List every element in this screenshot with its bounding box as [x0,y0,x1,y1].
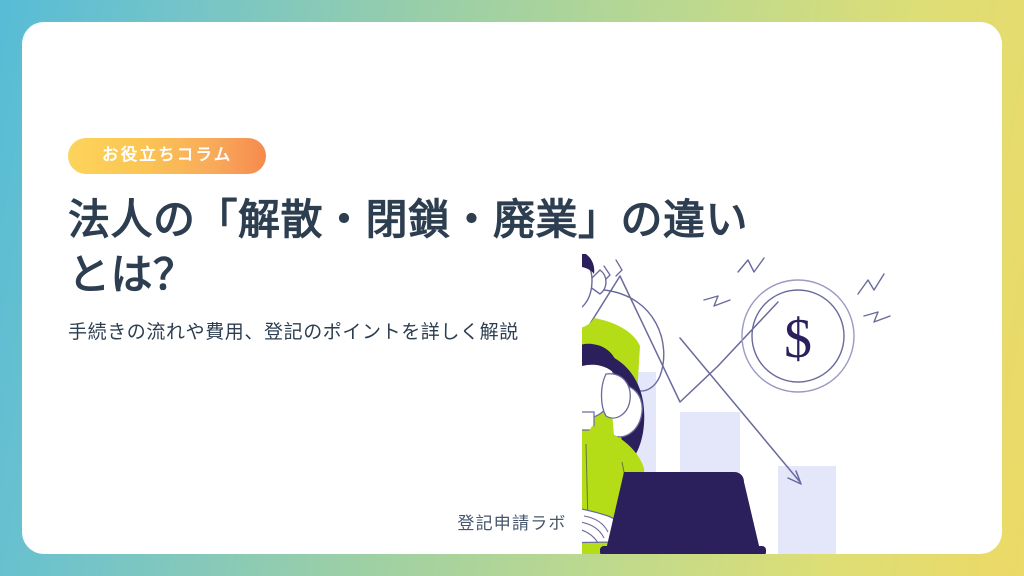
brand-name: 登記申請ラボ [22,509,1002,534]
text-column: お役立ちコラム 法人の「解散・閉鎖・廃業」の違いとは？ 手続きの流れや費用、登記… [68,138,808,347]
page-title: 法人の「解散・閉鎖・廃業」の違いとは？ [68,192,768,303]
poster-canvas: $ [0,0,1024,576]
page-subtitle: 手続きの流れや費用、登記のポイントを詳しく解説 [68,320,808,347]
content-card: $ [22,22,1002,554]
category-badge[interactable]: お役立ちコラム [68,138,266,174]
